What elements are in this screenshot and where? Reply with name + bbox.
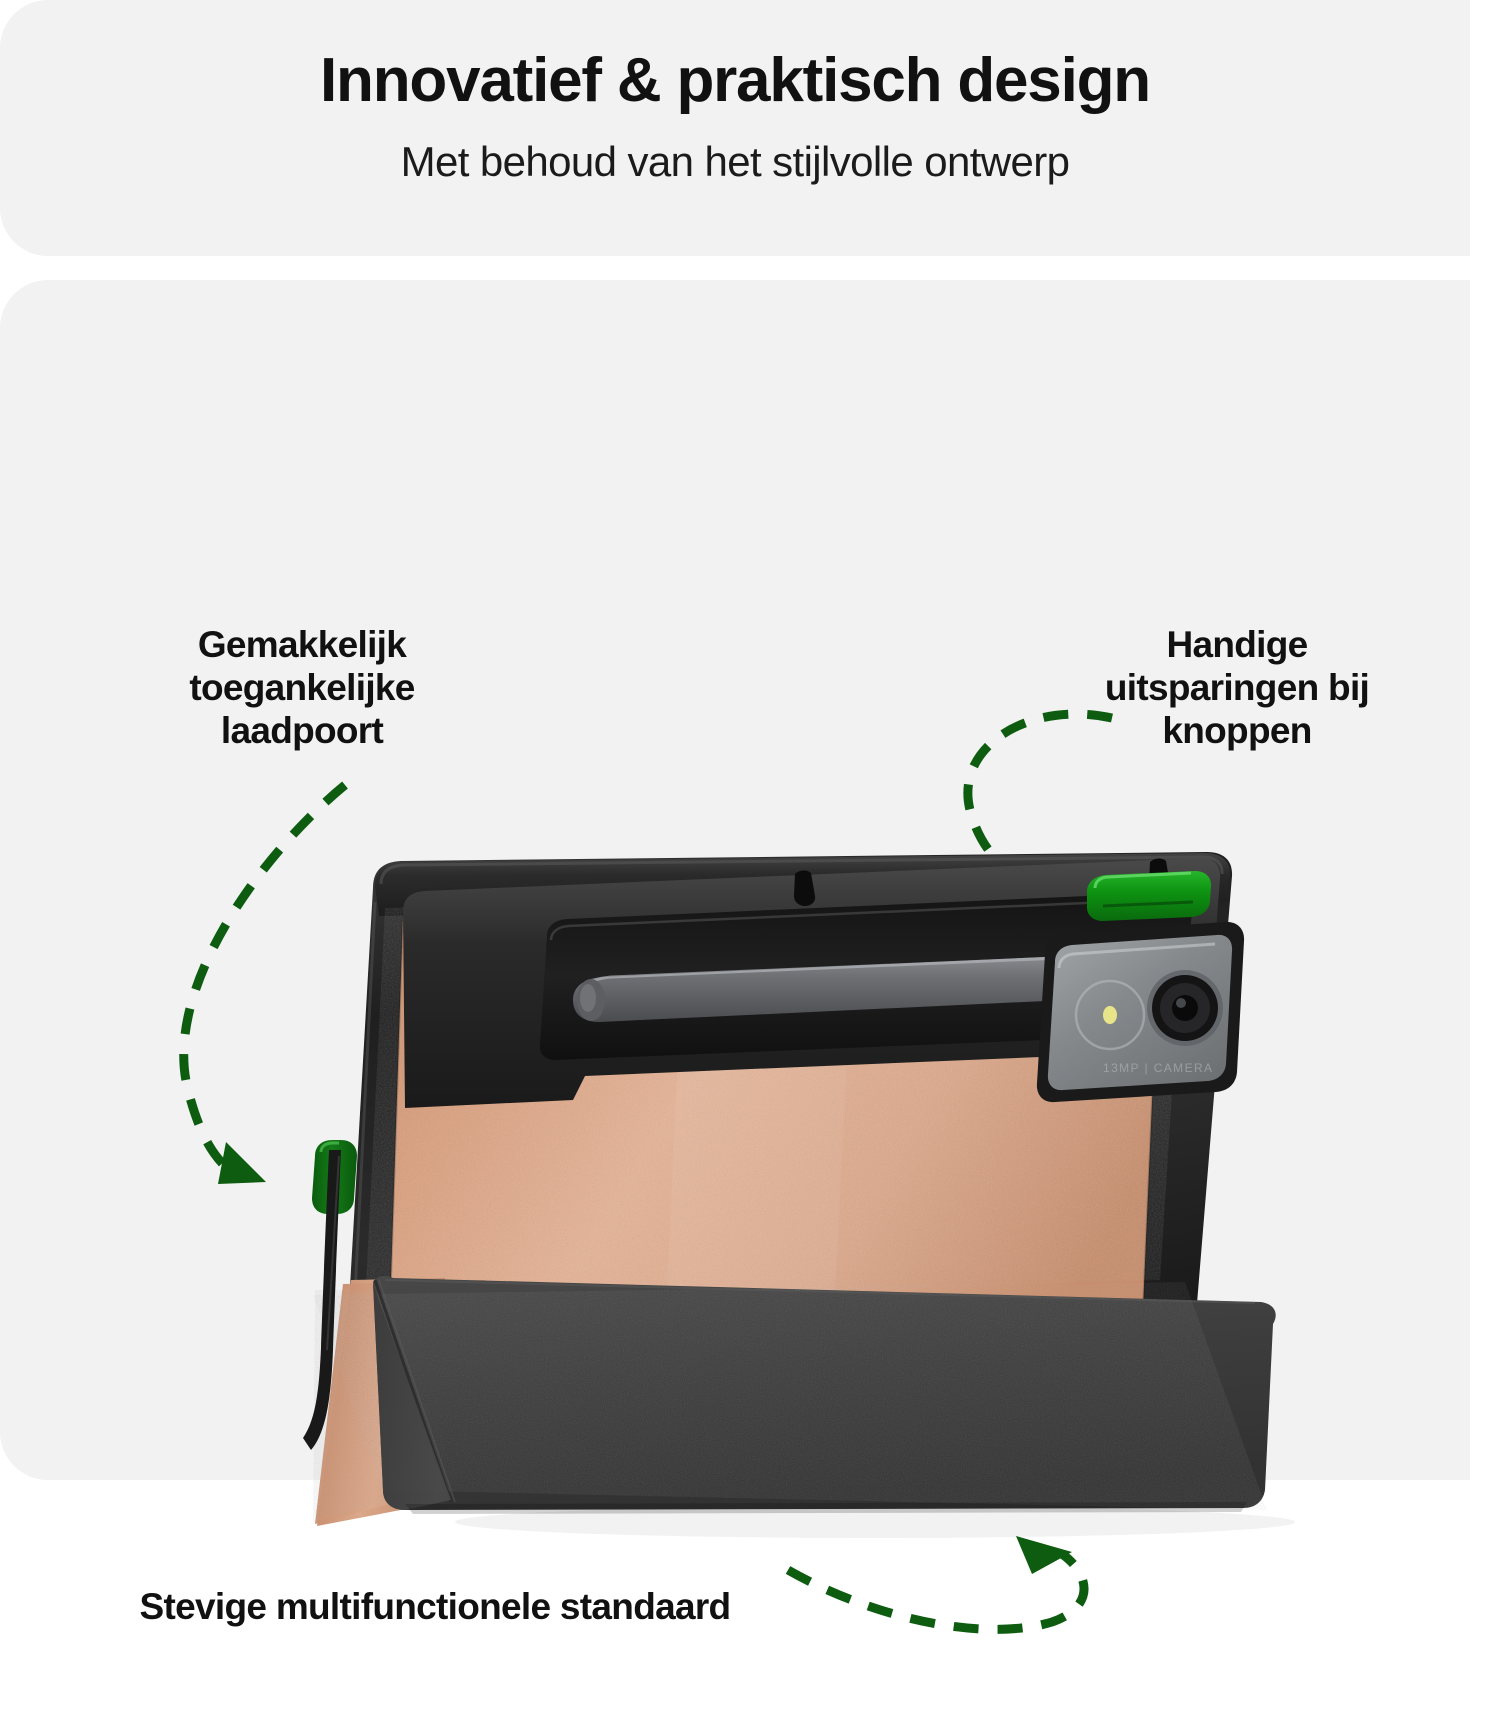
arrow-to-stand-icon	[780, 1530, 1110, 1710]
header-card: Innovatief & praktisch design Met behoud…	[0, 0, 1470, 256]
callout-button-cutouts: Handige uitsparingen bij knoppen	[1072, 624, 1402, 753]
callout-charging-port: Gemakkelijk toegankelijke laadpoort	[112, 624, 492, 753]
camera-label: 13MP | CAMERA	[1103, 1061, 1213, 1075]
button-cutout-highlight	[1087, 871, 1211, 921]
product-image-tablet-case: 13MP | CAMERA	[255, 850, 1285, 1530]
camera-module: 13MP | CAMERA	[1037, 922, 1244, 1102]
poster-canvas: Innovatief & praktisch design Met behoud…	[0, 0, 1500, 1500]
page-subtitle: Met behoud van het stijlvolle ontwerp	[0, 138, 1470, 186]
hero-card: Gemakkelijk toegankelijke laadpoort Hand…	[0, 280, 1470, 1480]
callout-stand: Stevige multifunctionele standaard	[130, 1586, 740, 1629]
page-title: Innovatief & praktisch design	[0, 50, 1470, 112]
